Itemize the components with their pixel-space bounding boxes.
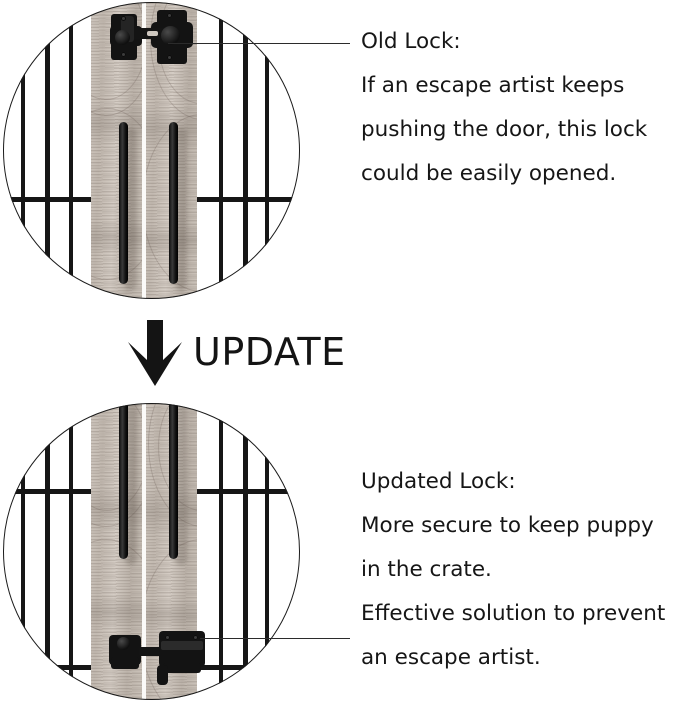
crate-door-handle-right[interactable] (169, 403, 178, 559)
crate-door-handle-left[interactable] (119, 122, 128, 284)
lock-screw (121, 52, 126, 57)
bolt-keeper-foot (111, 657, 139, 669)
wood-shading (91, 595, 142, 629)
crate-bar (265, 2, 269, 299)
crate-scene-updated (3, 403, 300, 700)
old-lock-heading: Old Lock: (361, 20, 677, 64)
update-banner: UPDATE (126, 316, 356, 388)
lock-knob-left (115, 30, 130, 45)
old-lock-photo-circle (3, 2, 300, 299)
crate-scene-old (3, 2, 300, 299)
updated-lock-heading: Updated Lock: (361, 460, 677, 504)
old-lock-line-2: pushing the door, this lock (361, 108, 677, 152)
lock-slot (147, 31, 158, 36)
slide-bolt-track (161, 641, 203, 650)
slide-bolt-thumb (157, 665, 168, 685)
old-lock-leader-line (168, 43, 350, 44)
updated-lock-hardware[interactable] (109, 629, 205, 685)
updated-lock-line-1: More secure to keep puppy (361, 504, 677, 548)
slide-bolt-base (163, 663, 201, 673)
crate-bar (69, 403, 73, 700)
lock-screw (165, 635, 170, 640)
wood-shading (146, 599, 197, 631)
updated-lock-leader-line (200, 638, 350, 639)
crate-bar (243, 403, 248, 700)
crate-bar (21, 403, 25, 700)
updated-lock-line-4: an escape artist. (361, 636, 677, 680)
lock-screw (167, 55, 172, 60)
crate-bar (45, 403, 50, 700)
crate-bar (243, 2, 248, 299)
updated-lock-text-block: Updated Lock: More secure to keep puppy … (361, 460, 677, 680)
lock-screw (167, 13, 172, 18)
update-label: UPDATE (193, 330, 346, 374)
crate-bar (69, 2, 73, 299)
old-lock-text-block: Old Lock: If an escape artist keeps push… (361, 20, 677, 196)
arrow-down-icon (126, 320, 184, 386)
old-lock-line-1: If an escape artist keeps (361, 64, 677, 108)
updated-lock-photo-circle (3, 403, 300, 700)
lock-screw (121, 16, 126, 21)
lock-screw (193, 635, 198, 640)
crate-bar (219, 2, 223, 299)
old-lock-line-3: could be easily opened. (361, 152, 677, 196)
crate-bar (45, 2, 50, 299)
crate-door-handle-left[interactable] (119, 403, 128, 559)
bolt-keeper-knob (117, 637, 130, 650)
crate-bar (21, 2, 25, 299)
crate-bar (219, 403, 223, 700)
crate-bar (265, 403, 269, 700)
updated-lock-line-3: Effective solution to prevent (361, 592, 677, 636)
infographic-canvas: Old Lock: If an escape artist keeps push… (0, 0, 679, 704)
old-lock-hardware[interactable] (107, 10, 193, 66)
updated-lock-line-2: in the crate. (361, 548, 677, 592)
crate-door-handle-right[interactable] (169, 122, 178, 284)
